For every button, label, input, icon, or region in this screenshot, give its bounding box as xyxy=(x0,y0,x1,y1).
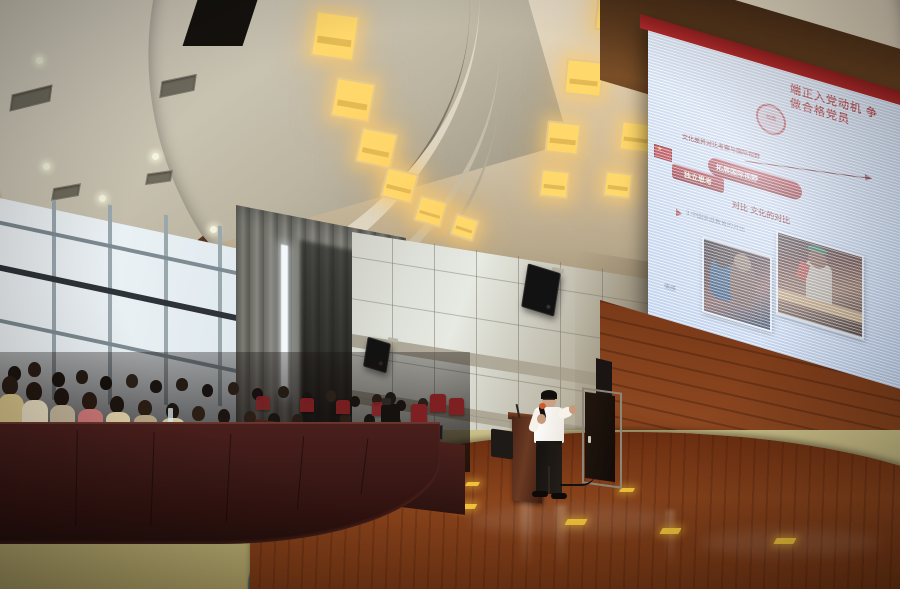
ceiling-light-panel xyxy=(310,10,360,62)
presenter-shoe xyxy=(551,493,567,499)
ceiling-light-panel xyxy=(330,77,376,123)
ceiling-light-panel xyxy=(563,58,605,98)
microphone-cable xyxy=(560,450,596,486)
presenter-hand-left xyxy=(537,414,546,424)
presenter-shoe xyxy=(532,491,548,497)
ceiling-downlight xyxy=(152,153,159,160)
presenter-hand-right xyxy=(569,405,577,414)
stage-reflection-column xyxy=(520,500,532,570)
microphone-head-icon xyxy=(539,403,546,409)
stage-chair xyxy=(491,428,513,459)
floor-light-reflection xyxy=(659,528,681,534)
ceiling-light-panel xyxy=(355,127,399,170)
lecture-hall-photo: 端正入党动机 争做合格党员 校徽 文化差异对比考察与国际视野 拓展国际视野 独立… xyxy=(0,0,900,589)
door-handle-icon[interactable] xyxy=(588,436,591,443)
floor-light-reflection xyxy=(564,519,587,525)
ceiling-downlight xyxy=(210,226,217,233)
ceiling-light-panel xyxy=(603,170,634,199)
ceiling-light-panel xyxy=(539,169,571,200)
ceiling-light-panel xyxy=(544,120,581,155)
stage-reflection-column xyxy=(666,510,675,568)
presenter-glasses-icon xyxy=(543,398,555,400)
water-bottle xyxy=(168,408,173,422)
ceiling-downlight xyxy=(43,163,50,170)
presenter-leg-gap xyxy=(548,466,550,494)
floor-light-reflection xyxy=(465,482,480,486)
speaker-right-icon xyxy=(521,263,561,316)
presenter xyxy=(528,392,570,504)
floor-light-reflection xyxy=(773,538,796,544)
ceiling-downlight xyxy=(99,195,106,202)
ceiling-downlight xyxy=(36,57,43,64)
stage-reflection-column xyxy=(556,505,566,569)
